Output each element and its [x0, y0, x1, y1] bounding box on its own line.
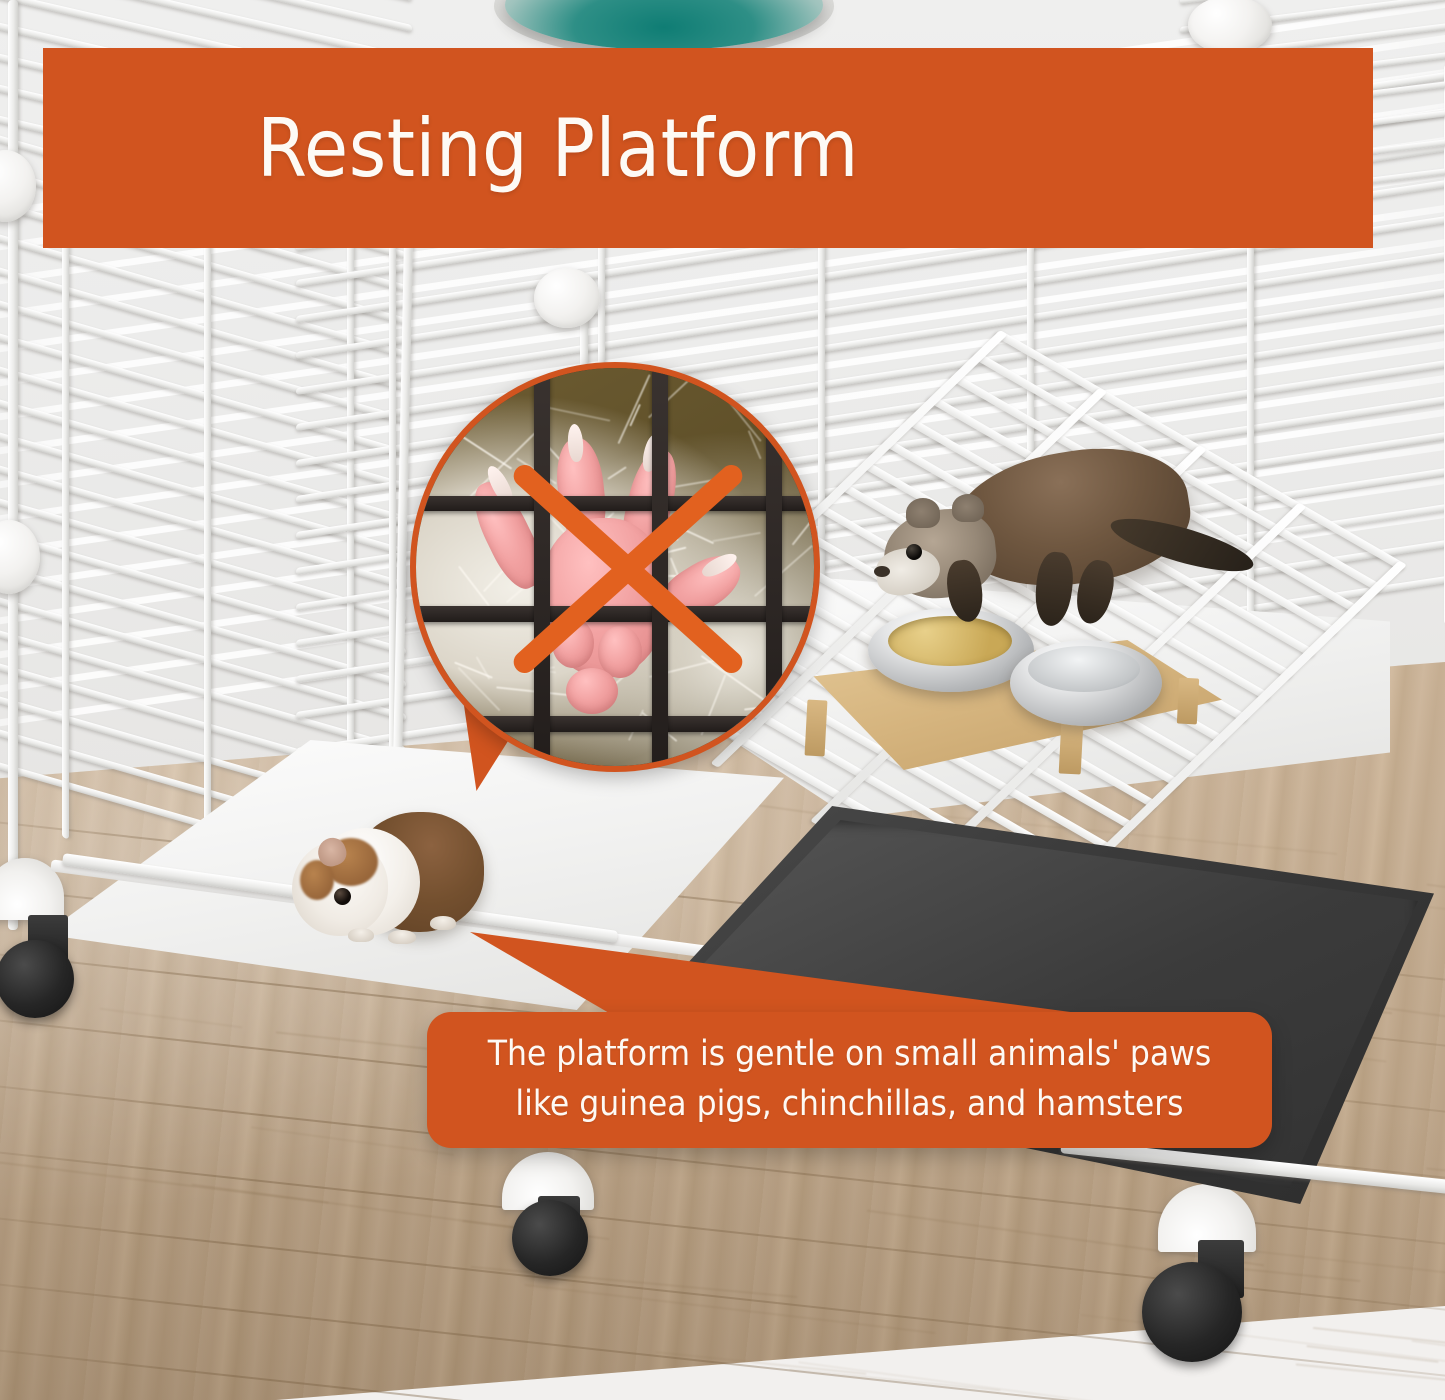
cage-post-left: [8, 0, 18, 930]
caption-callout: The platform is gentle on small animals'…: [427, 1012, 1272, 1148]
feeder-leg-center: [1059, 721, 1084, 774]
mesh-bar-horizontal-1: [410, 496, 820, 511]
guinea-pig-foot-mid: [388, 930, 416, 944]
mesh-bar-vertical-2: [652, 362, 668, 772]
paw-pad-3: [566, 668, 618, 714]
mesh-bar-vertical-3: [766, 362, 782, 772]
guinea-pig-eye: [334, 888, 351, 905]
mesh-bar-horizontal-3: [410, 716, 820, 732]
food-bowl-kibble: [888, 616, 1012, 666]
cage-wire-post: [62, 147, 69, 839]
cage-wire-post: [204, 188, 211, 880]
floor-wood-grain: [1412, 1340, 1445, 1388]
guinea-pig-foot-front: [348, 928, 374, 942]
caption-line-2: like guinea pigs, chinchillas, and hamst…: [515, 1080, 1183, 1130]
caption-line-1: The platform is gentle on small animals'…: [488, 1030, 1212, 1080]
caster-wheel-front-center: [512, 1200, 588, 1276]
mesh-bar-vertical-1: [534, 362, 550, 772]
cage-wire-bar: [0, 0, 412, 32]
guinea-pig-foot-rear: [430, 916, 456, 930]
product-feature-graphic: Resting Platform: [0, 0, 1445, 1400]
cage-wire-bar: [0, 0, 412, 1]
cage-connector-knob-top-center: [534, 268, 600, 328]
ferret-eye: [906, 544, 922, 560]
ferret-ear-left: [906, 498, 940, 528]
feeder-leg-right: [1177, 678, 1199, 725]
water-bowl-inner: [1028, 646, 1140, 692]
caster-wheel-front-right: [1142, 1262, 1242, 1362]
title-banner: Resting Platform: [43, 48, 1373, 248]
floor-wood-grain: [798, 1361, 1095, 1400]
floor-wood-grain: [789, 1368, 1000, 1391]
mesh-bar-horizontal-2: [410, 606, 820, 622]
ferret-ear-right: [952, 494, 984, 522]
ferret-nose: [874, 566, 890, 577]
inset-callout-circle: [410, 362, 820, 772]
floor-wood-grain: [1307, 1345, 1439, 1363]
wire-floor-paw-photo: [416, 368, 814, 766]
page-title: Resting Platform: [257, 102, 859, 195]
